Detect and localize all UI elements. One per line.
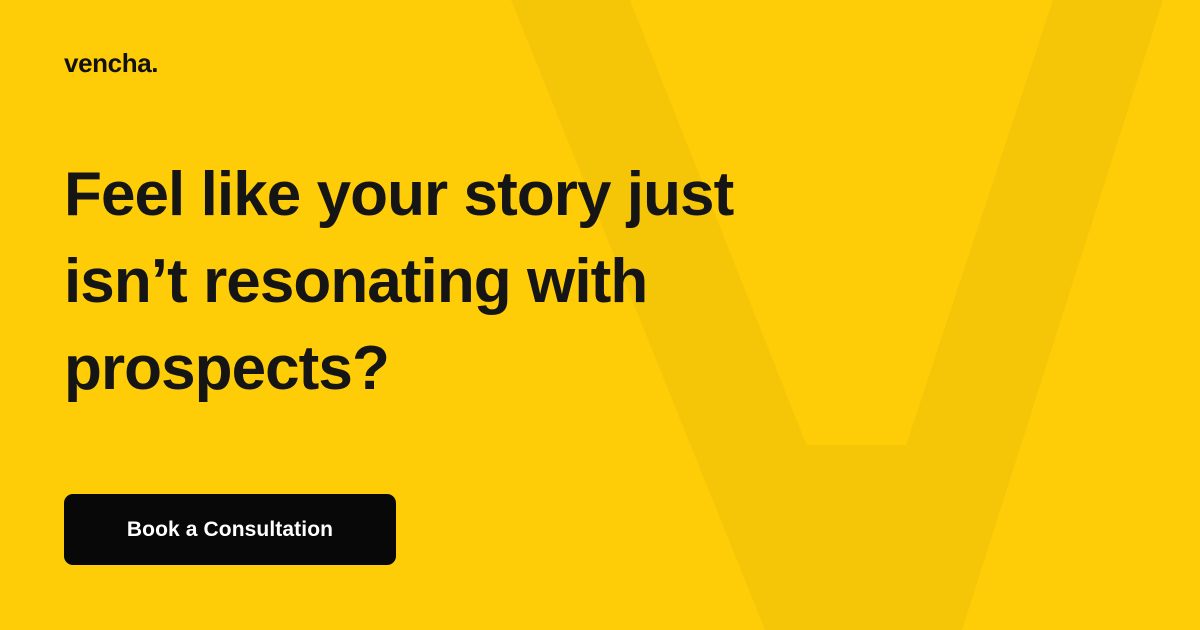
- brand-logo[interactable]: vencha.: [64, 50, 158, 76]
- headline-line-1: Feel like your story just: [64, 151, 733, 238]
- book-consultation-button[interactable]: Book a Consultation: [64, 494, 396, 565]
- page-title: Feel like your story just isn’t resonati…: [64, 151, 733, 412]
- headline-line-2: isn’t resonating with: [64, 238, 733, 325]
- headline-line-3: prospects?: [64, 325, 733, 412]
- banner-content: vencha. Feel like your story just isn’t …: [0, 0, 1200, 630]
- promo-banner: vencha. Feel like your story just isn’t …: [0, 0, 1200, 630]
